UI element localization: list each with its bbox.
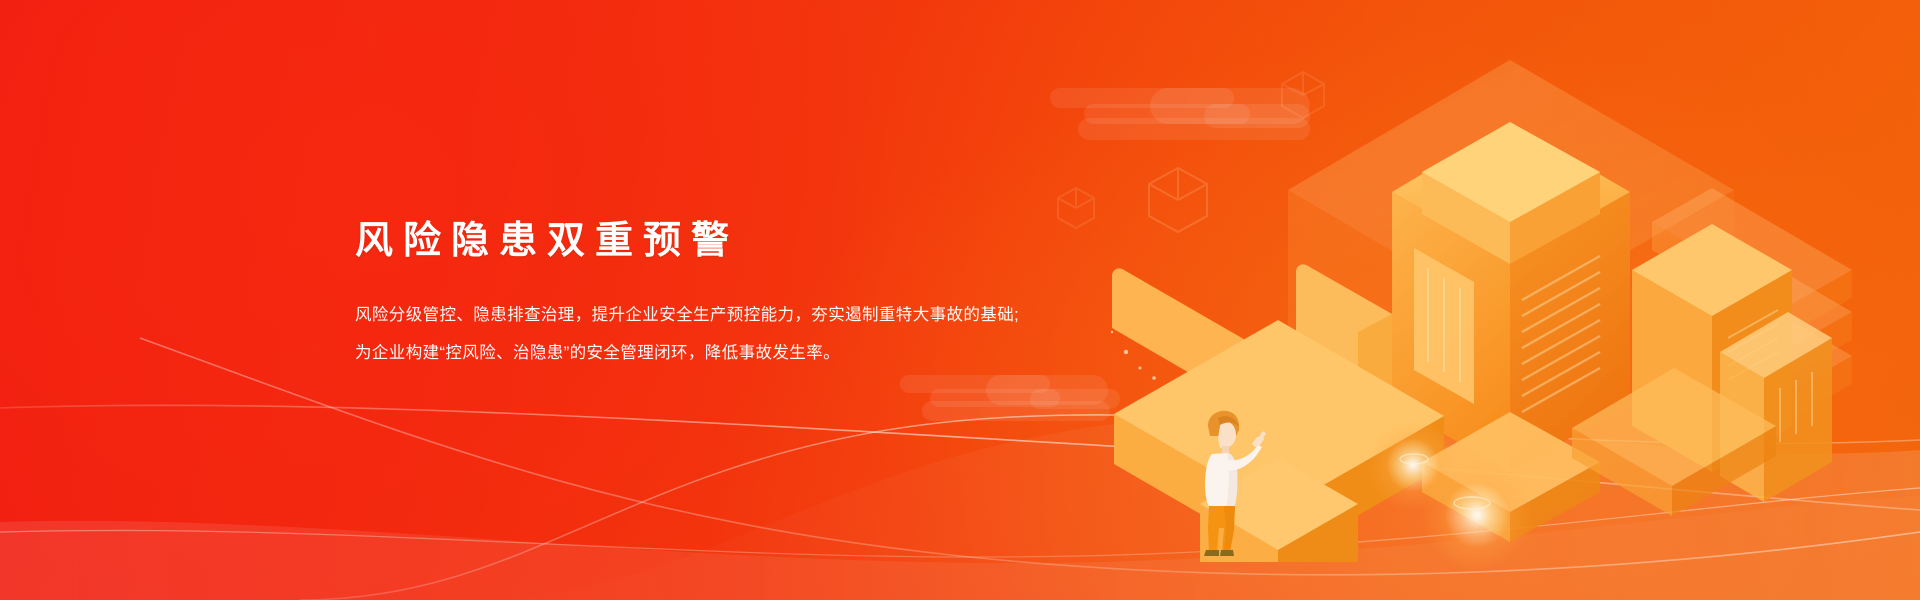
banner-subtitle: 风险分级管控、隐患排查治理，提升企业安全生产预控能力，夯实遏制重特大事故的基础;… bbox=[355, 296, 1135, 372]
wireframe-cube-icon bbox=[1280, 70, 1326, 120]
banner-copy: 风险隐患双重预警 风险分级管控、隐患排查治理，提升企业安全生产预控能力，夯实遏制… bbox=[355, 214, 1135, 372]
cloud-shape-icon bbox=[1050, 88, 1310, 150]
hero-banner: 风险隐患双重预警 风险分级管控、隐患排查治理，提升企业安全生产预控能力，夯实遏制… bbox=[0, 0, 1920, 600]
page-title: 风险隐患双重预警 bbox=[355, 214, 1135, 268]
wireframe-cube-icon bbox=[1145, 165, 1211, 235]
subtitle-line-2: 为企业构建“控风险、治隐患”的安全管理闭环，降低事故发生率。 bbox=[355, 334, 1135, 372]
person-pointing-illustration bbox=[1194, 408, 1272, 556]
glow-ring-icon bbox=[1452, 492, 1492, 514]
glow-ring-icon bbox=[1398, 450, 1430, 468]
subtitle-line-1: 风险分级管控、隐患排查治理，提升企业安全生产预控能力，夯实遏制重特大事故的基础; bbox=[355, 296, 1135, 334]
